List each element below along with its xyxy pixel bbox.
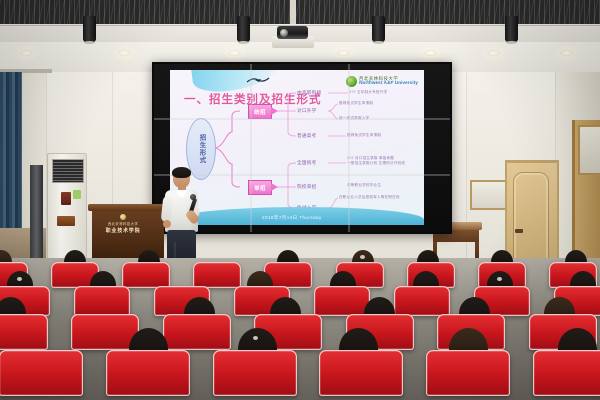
auditorium-seat[interactable] [0,350,83,396]
auditorium-seat[interactable] [213,350,297,396]
mindmap-note: 在职从业人员及退役军人等在职在岗 [339,195,400,200]
mindmap-branch-node-1: 统招 [248,104,272,119]
recessed-downlight [228,50,241,56]
wall-seam [112,72,113,222]
right-wall-window [578,125,600,175]
projector-mount-pole [290,0,296,24]
podium-institution-cn: 西北农林科技大学 [108,221,138,226]
column-speaker [30,165,43,270]
auditorium-seat[interactable] [74,286,130,316]
mindmap-leaf: 中高职衔接 [297,90,321,96]
recessed-downlight [560,50,573,56]
auditorium-seat[interactable] [193,262,241,288]
lecture-hall-photo: 西北农林科技大学 Northwest A&F University 一、招生类别… [0,0,600,400]
mindmap-branch-label-1: 统招 [254,108,266,116]
audience-hair-tie [17,277,22,281]
auditorium-seat[interactable] [314,286,370,316]
mindmap-center-label: 招生形式 [196,134,206,164]
mindmap-note: 中等职业学校毕业生 [347,183,381,188]
recessed-downlight [118,50,131,56]
podium-nameplate: 西北农林科技大学 职业技术学院 [100,214,146,234]
auditorium-seat[interactable] [533,350,600,396]
mindmap-leaf: 普通高考 [297,133,317,139]
auditorium-seat[interactable] [394,286,450,316]
slide-footer-date: 2016年7月14日 Thursday [262,215,322,221]
recessed-downlight [337,50,350,56]
auditorium-seat[interactable] [319,350,403,396]
auditorium-seat[interactable] [0,314,48,350]
mindmap-note: 3+2 五年制大专班升学 [349,90,387,95]
mindmap-leaf: 院校单招 [297,184,317,190]
auditorium-seat[interactable] [163,314,231,350]
auditorium-seat[interactable] [426,350,510,396]
mindmap-leaf: 对口升学 [297,108,317,114]
microphone-head-icon [190,194,196,200]
auditorium-seat[interactable] [106,350,190,396]
mindmap-note: 统一考试录取入学 [339,116,369,121]
recessed-downlight [487,50,500,56]
ac-badge [61,192,71,205]
presenter-hair [172,167,191,178]
pendant-light [237,16,250,42]
door-panel [513,172,549,266]
presentation-slide: 西北农林科技大学 Northwest A&F University 一、招生类别… [170,70,424,225]
mindmap-arrow-2 [271,183,278,191]
podium-institution-name: 职业技术学院 [106,227,141,234]
floor-standing-air-conditioner[interactable] [47,153,87,267]
mindmap-branch-label-2: 单招 [254,184,266,192]
mindmap-note: 3+2 对口招生录取 单独命题 一般招生录取计划 文理科分开划线 [347,156,405,166]
mindmap-note: 推荐免试学生申请制 [339,101,373,106]
mindmap-leaf: 全国统考 [297,160,317,166]
ac-label [57,216,75,226]
mindmap-branch-node-2: 单招 [248,180,272,195]
mindmap-note: 推荐免试学生申请制 [347,133,381,138]
auditorium-seat[interactable] [122,262,170,288]
ceiling-projector [272,22,314,48]
projector-lens-icon [280,29,288,37]
door-handle-icon[interactable] [515,229,523,233]
podium-emblem-icon [120,214,126,220]
mindmap-arrow-1 [271,107,278,115]
ac-sticker [73,190,81,199]
pendant-light [372,16,385,42]
recessed-downlight [424,50,437,56]
ac-vent-grille [52,159,84,183]
presenter-left-hand [163,220,171,228]
pendant-light [83,16,96,42]
recessed-downlight [20,50,33,56]
wall-mounted-frame [470,180,508,210]
podium-top-surface [88,204,168,211]
audience-hair-tie [497,277,502,281]
pendant-light [505,16,518,42]
mindmap: 招生形式 统招 单招 中高职衔接 对口升学 普通高考 全国统考 院校单招 免试入… [170,70,424,225]
